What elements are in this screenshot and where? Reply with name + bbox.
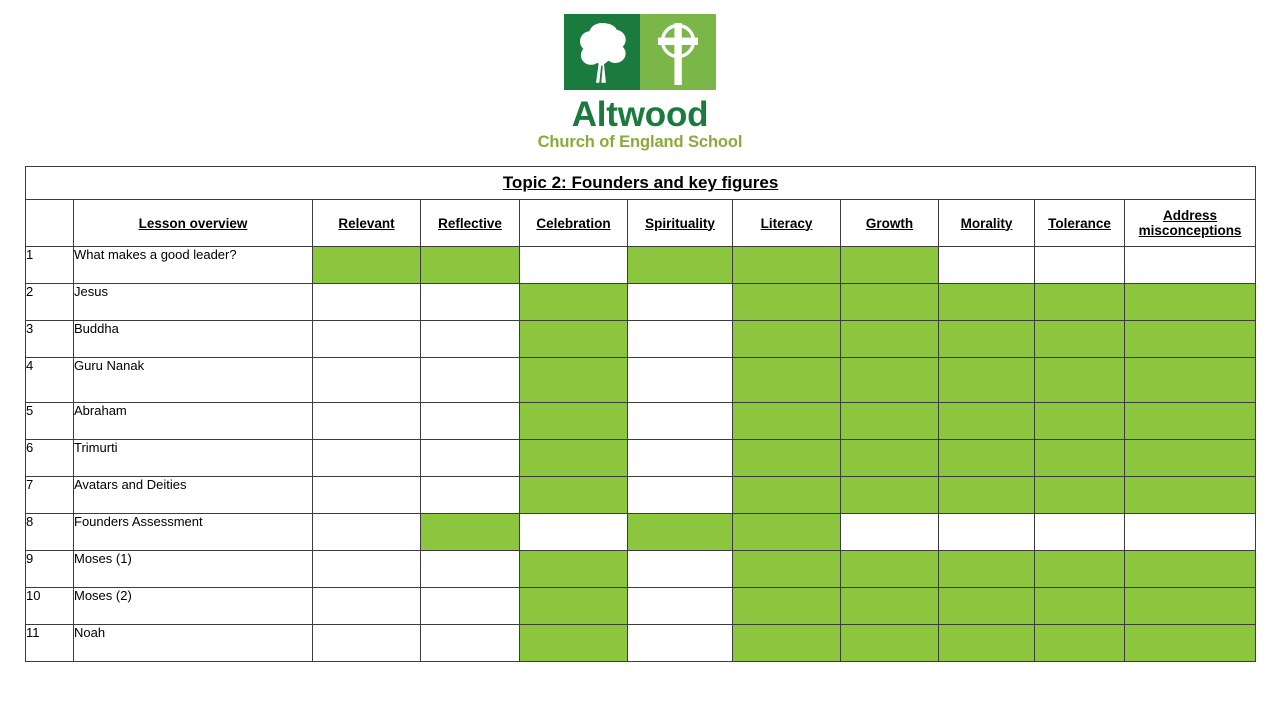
row-number: 9	[26, 551, 74, 588]
coverage-cell-relevant	[313, 514, 421, 551]
coverage-cell-spirituality	[628, 358, 733, 403]
coverage-cell-morality	[939, 321, 1035, 358]
coverage-cell-growth	[841, 403, 939, 440]
coverage-cell-relevant	[313, 551, 421, 588]
coverage-cell-celebration	[520, 440, 628, 477]
logo-subtitle: Church of England School	[538, 134, 743, 151]
lesson-overview-cell: Avatars and Deities	[74, 477, 313, 514]
coverage-cell-morality	[939, 358, 1035, 403]
coverage-cell-morality	[939, 284, 1035, 321]
celtic-cross-icon	[640, 14, 716, 90]
coverage-cell-literacy	[733, 588, 841, 625]
coverage-cell-relevant	[313, 440, 421, 477]
table-title: Topic 2: Founders and key figures	[26, 167, 1256, 200]
coverage-cell-address	[1125, 477, 1256, 514]
lesson-overview-cell: Buddha	[74, 321, 313, 358]
coverage-cell-tolerance	[1035, 247, 1125, 284]
row-number: 4	[26, 358, 74, 403]
coverage-cell-celebration	[520, 321, 628, 358]
table-body: 1What makes a good leader?2Jesus3Buddha4…	[26, 247, 1256, 662]
coverage-cell-growth	[841, 247, 939, 284]
table-row: 8Founders Assessment	[26, 514, 1256, 551]
coverage-cell-celebration	[520, 588, 628, 625]
coverage-cell-spirituality	[628, 284, 733, 321]
coverage-cell-celebration	[520, 551, 628, 588]
coverage-cell-morality	[939, 625, 1035, 662]
table-title-text: Topic 2: Founders and key figures	[503, 173, 779, 193]
table-row: 11Noah	[26, 625, 1256, 662]
coverage-cell-address	[1125, 358, 1256, 403]
school-logo: Altwood Church of England School	[0, 14, 1280, 151]
coverage-cell-morality	[939, 588, 1035, 625]
column-header-relevant: Relevant	[313, 200, 421, 247]
coverage-cell-literacy	[733, 477, 841, 514]
row-number: 10	[26, 588, 74, 625]
coverage-cell-address	[1125, 247, 1256, 284]
coverage-cell-morality	[939, 514, 1035, 551]
coverage-cell-address	[1125, 625, 1256, 662]
table-row: 10Moses (2)	[26, 588, 1256, 625]
coverage-cell-growth	[841, 551, 939, 588]
coverage-cell-relevant	[313, 403, 421, 440]
coverage-cell-relevant	[313, 625, 421, 662]
column-header-tolerance: Tolerance	[1035, 200, 1125, 247]
coverage-cell-morality	[939, 403, 1035, 440]
coverage-cell-morality	[939, 247, 1035, 284]
table-row: 7Avatars and Deities	[26, 477, 1256, 514]
row-number: 8	[26, 514, 74, 551]
coverage-cell-literacy	[733, 551, 841, 588]
table-row: 5Abraham	[26, 403, 1256, 440]
table-row: 9Moses (1)	[26, 551, 1256, 588]
coverage-cell-reflective	[421, 625, 520, 662]
table-row: 1What makes a good leader?	[26, 247, 1256, 284]
coverage-cell-address	[1125, 551, 1256, 588]
coverage-cell-morality	[939, 551, 1035, 588]
page-root: Altwood Church of England School	[0, 0, 1280, 720]
coverage-cell-reflective	[421, 440, 520, 477]
coverage-cell-spirituality	[628, 403, 733, 440]
coverage-cell-spirituality	[628, 588, 733, 625]
column-header-growth: Growth	[841, 200, 939, 247]
coverage-cell-celebration	[520, 625, 628, 662]
lesson-overview-cell: Moses (1)	[74, 551, 313, 588]
coverage-cell-tolerance	[1035, 358, 1125, 403]
coverage-cell-address	[1125, 588, 1256, 625]
coverage-cell-literacy	[733, 514, 841, 551]
coverage-cell-spirituality	[628, 625, 733, 662]
coverage-cell-spirituality	[628, 514, 733, 551]
lesson-overview-cell: Guru Nanak	[74, 358, 313, 403]
coverage-cell-relevant	[313, 284, 421, 321]
coverage-cell-relevant	[313, 588, 421, 625]
coverage-cell-reflective	[421, 284, 520, 321]
coverage-cell-address	[1125, 403, 1256, 440]
coverage-cell-growth	[841, 588, 939, 625]
logo-wordmark: Altwood	[572, 97, 709, 133]
lesson-overview-cell: What makes a good leader?	[74, 247, 313, 284]
coverage-cell-spirituality	[628, 477, 733, 514]
coverage-cell-reflective	[421, 247, 520, 284]
curriculum-table: Topic 2: Founders and key figures Lesson…	[25, 166, 1256, 662]
column-header-spirituality: Spirituality	[628, 200, 733, 247]
coverage-cell-celebration	[520, 477, 628, 514]
coverage-cell-celebration	[520, 403, 628, 440]
column-header-literacy: Literacy	[733, 200, 841, 247]
coverage-cell-address	[1125, 514, 1256, 551]
coverage-cell-literacy	[733, 440, 841, 477]
table-header-row: Lesson overview Relevant Reflective Cele…	[26, 200, 1256, 247]
lesson-overview-cell: Moses (2)	[74, 588, 313, 625]
coverage-cell-address	[1125, 284, 1256, 321]
row-number: 2	[26, 284, 74, 321]
column-header-address-misconceptions: Address misconceptions	[1125, 200, 1256, 247]
coverage-cell-tolerance	[1035, 625, 1125, 662]
coverage-cell-literacy	[733, 403, 841, 440]
coverage-cell-address	[1125, 321, 1256, 358]
coverage-cell-spirituality	[628, 440, 733, 477]
row-number: 6	[26, 440, 74, 477]
coverage-cell-growth	[841, 321, 939, 358]
coverage-cell-celebration	[520, 514, 628, 551]
coverage-cell-tolerance	[1035, 588, 1125, 625]
coverage-cell-reflective	[421, 551, 520, 588]
coverage-cell-growth	[841, 514, 939, 551]
coverage-cell-literacy	[733, 284, 841, 321]
table-row: 4Guru Nanak	[26, 358, 1256, 403]
coverage-cell-tolerance	[1035, 514, 1125, 551]
coverage-cell-growth	[841, 625, 939, 662]
coverage-cell-celebration	[520, 358, 628, 403]
coverage-cell-tolerance	[1035, 284, 1125, 321]
row-number: 1	[26, 247, 74, 284]
table-head: Topic 2: Founders and key figures Lesson…	[26, 167, 1256, 247]
coverage-cell-morality	[939, 477, 1035, 514]
coverage-cell-reflective	[421, 514, 520, 551]
coverage-cell-celebration	[520, 247, 628, 284]
coverage-cell-reflective	[421, 588, 520, 625]
coverage-cell-tolerance	[1035, 321, 1125, 358]
coverage-cell-growth	[841, 284, 939, 321]
coverage-cell-tolerance	[1035, 440, 1125, 477]
coverage-cell-literacy	[733, 321, 841, 358]
coverage-cell-reflective	[421, 403, 520, 440]
coverage-cell-literacy	[733, 247, 841, 284]
coverage-cell-relevant	[313, 477, 421, 514]
lesson-overview-cell: Founders Assessment	[74, 514, 313, 551]
coverage-cell-spirituality	[628, 551, 733, 588]
table-row: 2Jesus	[26, 284, 1256, 321]
lesson-overview-cell: Abraham	[74, 403, 313, 440]
lesson-overview-cell: Noah	[74, 625, 313, 662]
coverage-cell-tolerance	[1035, 477, 1125, 514]
lesson-overview-cell: Trimurti	[74, 440, 313, 477]
coverage-cell-growth	[841, 440, 939, 477]
column-header-celebration: Celebration	[520, 200, 628, 247]
logo-mark	[564, 14, 716, 90]
coverage-cell-reflective	[421, 321, 520, 358]
coverage-cell-reflective	[421, 358, 520, 403]
column-header-lesson-overview: Lesson overview	[74, 200, 313, 247]
curriculum-table-wrapper: Topic 2: Founders and key figures Lesson…	[25, 166, 1255, 662]
coverage-cell-spirituality	[628, 247, 733, 284]
column-header-number	[26, 200, 74, 247]
column-header-morality: Morality	[939, 200, 1035, 247]
table-title-row: Topic 2: Founders and key figures	[26, 167, 1256, 200]
coverage-cell-growth	[841, 477, 939, 514]
coverage-cell-tolerance	[1035, 551, 1125, 588]
row-number: 3	[26, 321, 74, 358]
coverage-cell-celebration	[520, 284, 628, 321]
coverage-cell-relevant	[313, 321, 421, 358]
row-number: 11	[26, 625, 74, 662]
coverage-cell-relevant	[313, 358, 421, 403]
coverage-cell-growth	[841, 358, 939, 403]
lesson-overview-cell: Jesus	[74, 284, 313, 321]
coverage-cell-literacy	[733, 625, 841, 662]
column-header-reflective: Reflective	[421, 200, 520, 247]
coverage-cell-relevant	[313, 247, 421, 284]
table-row: 6Trimurti	[26, 440, 1256, 477]
row-number: 7	[26, 477, 74, 514]
coverage-cell-reflective	[421, 477, 520, 514]
row-number: 5	[26, 403, 74, 440]
coverage-cell-literacy	[733, 358, 841, 403]
coverage-cell-address	[1125, 440, 1256, 477]
coverage-cell-spirituality	[628, 321, 733, 358]
coverage-cell-tolerance	[1035, 403, 1125, 440]
coverage-cell-morality	[939, 440, 1035, 477]
table-row: 3Buddha	[26, 321, 1256, 358]
tree-icon	[564, 14, 640, 90]
